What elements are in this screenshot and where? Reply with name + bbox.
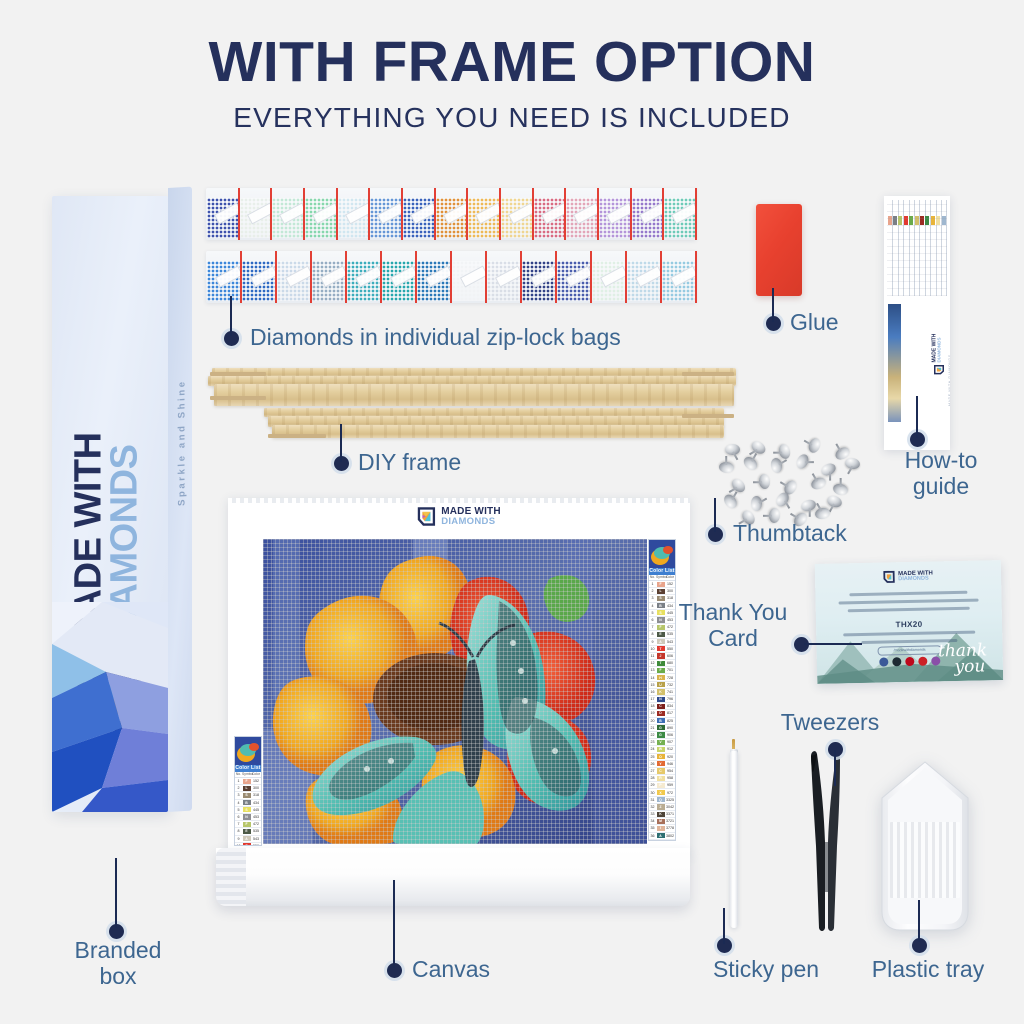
- canvas-diamond-grid-texture: [263, 539, 647, 844]
- color-row-symbol: C: [657, 704, 665, 709]
- color-row-symbol: F: [243, 779, 251, 784]
- color-list-row: 26Y946: [649, 761, 675, 768]
- color-row-symbol: T: [657, 646, 665, 651]
- ziplock-bag: [311, 251, 346, 303]
- tweezers-shape: [808, 742, 842, 932]
- color-row-code: 550: [251, 844, 261, 846]
- color-list-row: 19D817: [649, 710, 675, 717]
- color-list-row: 24W912: [649, 746, 675, 753]
- color-row-symbol: V: [657, 740, 665, 745]
- color-row-symbol: L: [243, 786, 251, 791]
- thumbtack-pin: [794, 452, 810, 470]
- color-list-row: 6N453: [235, 814, 261, 821]
- color-row-symbol: A: [657, 639, 665, 644]
- ziplock-bag: [565, 188, 598, 240]
- color-row-symbol: I: [657, 826, 665, 831]
- color-row-index: 18: [649, 704, 656, 708]
- color-row-code: 920: [665, 755, 675, 759]
- color-list-row: 32Z3042: [649, 804, 675, 811]
- color-list-row: 30X972: [649, 789, 675, 796]
- color-row-index: 6: [649, 618, 656, 622]
- color-row-code: 300: [251, 786, 261, 790]
- made-with-diamonds-logo-icon: [417, 506, 436, 527]
- color-row-code: 741: [665, 690, 675, 694]
- color-row-code: 3371: [665, 812, 675, 816]
- made-with-diamonds-logo-icon: [932, 365, 943, 375]
- callout-branded-box: Branded box: [30, 938, 206, 990]
- callout-thankyou-card: Thank You Card: [672, 600, 794, 652]
- color-list-row: 2L300: [649, 588, 675, 595]
- leader-line-tweezers: [834, 750, 836, 786]
- ziplock-bag: [304, 188, 337, 240]
- color-row-symbol: B: [657, 718, 665, 723]
- color-row-code: 825: [665, 719, 675, 723]
- ziplock-bag: [206, 188, 239, 240]
- color-row-index: 36: [649, 834, 656, 838]
- color-row-symbol: J: [657, 653, 665, 658]
- ziplock-bag: [533, 188, 566, 240]
- color-row-code: 906: [665, 733, 675, 737]
- color-list-row: 21G890: [649, 725, 675, 732]
- color-row-code: 543: [251, 837, 261, 841]
- color-row-code: 732: [665, 683, 675, 687]
- frame-tenon: [268, 434, 326, 438]
- color-row-symbol: R: [657, 776, 665, 781]
- frame-slat: [214, 384, 734, 406]
- plastic-tray-product: [872, 760, 978, 932]
- thumbtack-pin: [729, 476, 747, 494]
- leader-line-glue: [772, 288, 774, 322]
- ziplock-bag: [239, 188, 272, 240]
- color-row-symbol: Q: [657, 797, 665, 802]
- color-list-row: 1F152: [649, 581, 675, 588]
- leader-line-sticky-pen: [723, 908, 725, 944]
- color-row-index: 8: [235, 829, 242, 833]
- color-row-symbol: H: [657, 675, 665, 680]
- color-list-row: 34M3721: [649, 818, 675, 825]
- thumbtack-pin: [725, 444, 740, 455]
- color-row-index: 35: [649, 826, 656, 830]
- callout-tweezers: Tweezers: [760, 710, 900, 736]
- color-row-index: 6: [235, 815, 242, 819]
- color-row-symbol: L: [657, 589, 665, 594]
- color-row-index: 27: [649, 769, 656, 773]
- color-row-index: 33: [649, 812, 656, 816]
- color-row-index: 14: [649, 676, 656, 680]
- thumbtack-pin: [826, 494, 844, 509]
- canvas-brand-line2: DIAMONDS: [441, 517, 501, 527]
- guide-cover-photo: [888, 304, 901, 422]
- color-row-code: 958: [665, 776, 675, 780]
- ziplock-bag: [598, 188, 631, 240]
- bag-zip-seal: [695, 188, 697, 240]
- color-list-row: 31Q3325: [649, 797, 675, 804]
- thankyou-card-product: MADE WITH DIAMONDS THX20 /madewithdiamon…: [815, 560, 1003, 684]
- color-list-row: 27C954: [649, 768, 675, 775]
- ziplock-bag: [369, 188, 402, 240]
- color-row-index: 15: [649, 683, 656, 687]
- thumbtack-pin: [814, 507, 831, 521]
- thumbtack-pin: [719, 461, 735, 473]
- color-list-row: 15U732: [649, 682, 675, 689]
- box-side-panel: Sparkle and Shine: [168, 187, 192, 812]
- color-row-index: 1: [649, 582, 656, 586]
- color-list-row: 2L300: [235, 785, 261, 792]
- color-row-symbol: E: [243, 829, 251, 834]
- diy-frame-product: [208, 368, 738, 456]
- callout-plastic-tray: Plastic tray: [838, 957, 1018, 983]
- color-list-row: 17N796: [649, 696, 675, 703]
- thumbtack-pin: [741, 454, 760, 472]
- ziplock-bag: [556, 251, 591, 303]
- color-list-row: 20B825: [649, 718, 675, 725]
- color-row-index: 4: [235, 801, 242, 805]
- color-row-code: 796: [665, 697, 675, 701]
- color-row-code: 300: [665, 589, 675, 593]
- color-row-index: 31: [649, 798, 656, 802]
- guide-brand-logo: MADE WITH DIAMONDS: [932, 329, 943, 375]
- color-row-index: 3: [649, 596, 656, 600]
- color-row-symbol: F: [657, 582, 665, 587]
- color-row-symbol: A: [243, 836, 251, 841]
- color-row-symbol: F: [657, 625, 665, 630]
- frame-tenon: [210, 396, 266, 400]
- canvas-edge-top: [228, 498, 690, 503]
- color-row-index: 2: [649, 589, 656, 593]
- thumbtack-pin: [722, 492, 740, 511]
- color-row-code: 3778: [665, 826, 675, 830]
- ziplock-bag: [631, 188, 664, 240]
- pen-body: [730, 751, 738, 928]
- color-row-index: 21: [649, 726, 656, 730]
- ziplock-bag: [663, 188, 696, 240]
- ziplock-bag: [346, 251, 381, 303]
- thumbtack-pin: [809, 476, 827, 492]
- color-list-row: 33K3371: [649, 811, 675, 818]
- color-row-symbol: Z: [657, 804, 665, 809]
- leader-line-ziplock: [230, 296, 232, 336]
- color-row-index: 30: [649, 791, 656, 795]
- color-row-index: 10: [235, 844, 242, 846]
- callout-diy-frame: DIY frame: [358, 450, 558, 476]
- ziplock-bag: [402, 188, 435, 240]
- color-row-index: 2: [235, 786, 242, 790]
- color-list-row: 5S445: [235, 807, 261, 814]
- color-list-row: 7F472: [235, 821, 261, 828]
- color-row-symbol: C: [657, 768, 665, 773]
- color-row-index: 9: [649, 640, 656, 644]
- youtube-icon[interactable]: [918, 657, 927, 666]
- color-row-index: 11: [649, 654, 656, 658]
- color-row-symbol: N: [657, 617, 665, 622]
- canvas-roll-end-cap: [216, 848, 246, 906]
- ziplock-bag: [591, 251, 626, 303]
- color-row-code: 890: [665, 726, 675, 730]
- frame-tenon: [682, 372, 734, 376]
- color-row-code: 728: [665, 676, 675, 680]
- color-row-symbol: Y: [657, 761, 665, 766]
- color-row-index: 20: [649, 719, 656, 723]
- color-row-symbol: E: [657, 632, 665, 637]
- leader-line-branded-box: [115, 858, 117, 928]
- color-list-row: 25O920: [649, 754, 675, 761]
- color-row-symbol: N: [243, 814, 251, 819]
- color-row-index: 26: [649, 762, 656, 766]
- color-row-symbol: S: [657, 610, 665, 615]
- color-row-index: 32: [649, 805, 656, 809]
- color-row-index: 10: [649, 647, 656, 651]
- color-list-row: 29P959: [649, 782, 675, 789]
- color-list-row: 8E535: [235, 828, 261, 835]
- color-row-code: 701: [665, 668, 675, 672]
- leader-line-howto: [916, 396, 918, 438]
- color-row-symbol: T: [657, 840, 665, 841]
- card-brand-text: MADE WITH DIAMONDS: [898, 570, 933, 582]
- color-row-index: 16: [649, 690, 656, 694]
- color-row-symbol: M: [657, 819, 665, 824]
- color-row-symbol: S: [657, 596, 665, 601]
- thumbtack-pin: [819, 461, 837, 478]
- color-row-index: 12: [649, 661, 656, 665]
- thumbtack-pin: [844, 457, 861, 470]
- card-discount-code: THX20: [896, 620, 923, 630]
- page-title: WITH FRAME OPTION: [0, 34, 1024, 91]
- guide-side-text: MADE WITH DIAMONDS: [948, 346, 950, 406]
- color-list-row: 14H728: [649, 674, 675, 681]
- color-row-code: 445: [251, 808, 261, 812]
- color-row-code: 3721: [665, 819, 675, 823]
- canvas-artwork: [263, 539, 647, 844]
- box-lowpoly-pattern: [52, 602, 168, 812]
- color-row-index: 19: [649, 711, 656, 715]
- leader-line-diy-frame: [340, 424, 342, 462]
- thumbtack-pin: [832, 482, 849, 497]
- color-list-thumbnail: [649, 540, 675, 568]
- color-list-row: 28R958: [649, 775, 675, 782]
- color-row-code: 972: [665, 791, 675, 795]
- guide-brand-text: MADE WITH DIAMONDS: [932, 334, 942, 363]
- color-list-row: 37T3808: [649, 840, 675, 841]
- guide-brand-line2: DIAMONDS: [937, 334, 942, 363]
- ziplock-bag: [241, 251, 276, 303]
- frame-tenon: [682, 414, 734, 418]
- facebook-icon[interactable]: [879, 657, 888, 666]
- ziplock-bag: [271, 188, 304, 240]
- color-row-symbol: T: [657, 661, 665, 666]
- color-row-code: 453: [251, 815, 261, 819]
- color-row-symbol: S: [243, 793, 251, 798]
- color-row-code: 606: [665, 654, 675, 658]
- thumbtack-pin: [807, 437, 823, 455]
- color-list-row: 11J606: [649, 653, 675, 660]
- ziplock-bag: [486, 251, 521, 303]
- color-row-index: 29: [649, 783, 656, 787]
- color-row-symbol: B: [657, 603, 665, 608]
- color-row-index: 22: [649, 733, 656, 737]
- ziplock-bag: [626, 251, 661, 303]
- color-row-symbol: F: [657, 668, 665, 673]
- color-row-code: 152: [251, 779, 261, 783]
- color-list-title: Color List: [649, 568, 675, 575]
- color-row-index: 3: [235, 793, 242, 797]
- card-brand-line2: DIAMONDS: [898, 576, 933, 582]
- ziplock-bag: [435, 188, 468, 240]
- color-row-symbol: S: [243, 807, 251, 812]
- leader-line-thumbtack: [714, 498, 716, 532]
- color-row-symbol: B: [243, 800, 251, 805]
- color-row-code: 959: [665, 783, 675, 787]
- ziplock-bag: [206, 251, 241, 303]
- color-row-symbol: K: [657, 689, 665, 694]
- ziplock-bag: [337, 188, 370, 240]
- canvas-brand-text: MADE WITH DIAMONDS: [441, 507, 501, 527]
- color-row-symbol: K: [657, 812, 665, 817]
- color-row-code: 946: [665, 762, 675, 766]
- color-row-code: 318: [251, 793, 261, 797]
- color-list-row: 10T550: [235, 843, 261, 846]
- color-list-row: 1F152: [235, 778, 261, 785]
- canvas-color-list-left: Color List No. Symbol Color 1F1522L3003S…: [234, 736, 262, 846]
- tweezers-product: [808, 742, 842, 932]
- color-row-index: 7: [649, 625, 656, 629]
- callout-thumbtack: Thumbtack: [733, 521, 913, 547]
- frame-tenon: [210, 372, 266, 376]
- ziplock-bags-product: [206, 188, 696, 303]
- pinterest-icon[interactable]: [905, 657, 914, 666]
- thumbtack-pin: [770, 457, 784, 474]
- color-row-index: 8: [649, 632, 656, 636]
- color-row-index: 9: [235, 837, 242, 841]
- color-row-code: 3042: [665, 805, 675, 809]
- leader-line-plastic-tray: [918, 900, 920, 942]
- color-list-row: 9A543: [235, 836, 261, 843]
- canvas-product: MADE WITH DIAMONDS: [228, 498, 690, 878]
- card-thankyou-script: thank you: [930, 642, 995, 676]
- color-row-symbol: X: [657, 790, 665, 795]
- color-row-symbol: O: [657, 754, 665, 759]
- color-row-index: 24: [649, 747, 656, 751]
- color-row-symbol: U: [657, 682, 665, 687]
- color-row-index: 1: [235, 779, 242, 783]
- color-row-index: 23: [649, 740, 656, 744]
- color-row-symbol: D: [657, 711, 665, 716]
- color-list-rows: 1F1522L3003S3184B4345S4456N4537F4728E535…: [235, 778, 261, 846]
- card-message-line: [839, 599, 979, 605]
- canvas-rolled-bottom: [216, 848, 690, 906]
- color-list-row: 35I3778: [649, 825, 675, 832]
- ziplock-bag: [381, 251, 416, 303]
- color-row-symbol: A: [657, 833, 665, 838]
- color-row-code: 680: [665, 661, 675, 665]
- thumbtack-pin: [777, 443, 792, 460]
- infographic-root: WITH FRAME OPTION EVERYTHING YOU NEED IS…: [0, 0, 1024, 1024]
- thumbtack-pin: [751, 496, 762, 511]
- ziplock-bag: [661, 251, 696, 303]
- ziplock-bag: [416, 251, 451, 303]
- color-row-symbol: P: [657, 783, 665, 788]
- color-row-index: 17: [649, 697, 656, 701]
- color-row-symbol: G: [657, 725, 665, 730]
- sticky-pen-product: [727, 733, 741, 928]
- color-row-index: 5: [235, 808, 242, 812]
- canvas-color-list-right: Color List No. Symbol Color 1F1522L3003S…: [648, 539, 676, 841]
- canvas-brand-logo: MADE WITH DIAMONDS: [417, 506, 501, 527]
- color-row-symbol: F: [243, 822, 251, 827]
- callout-howto-guide: How-to guide: [866, 448, 1016, 500]
- color-list-row: 22G906: [649, 732, 675, 739]
- box-brand-line2: DIAMONDS: [107, 196, 143, 647]
- color-list-row: 18C834: [649, 703, 675, 710]
- branded-box-product: MADE WITH DIAMONDS: [52, 188, 194, 820]
- color-list-title: Color List: [235, 765, 261, 772]
- tray-ribs: [890, 822, 960, 898]
- callout-canvas: Canvas: [412, 957, 612, 983]
- color-row-index: 7: [235, 822, 242, 826]
- box-brand-line1: MADE WITH: [71, 196, 107, 647]
- box-front-face: MADE WITH DIAMONDS: [52, 196, 168, 812]
- glue-product: [756, 204, 802, 296]
- color-row-symbol: N: [657, 697, 665, 702]
- color-list-row: 4B434: [235, 800, 261, 807]
- card-message-line: [849, 591, 967, 596]
- color-row-code: 535: [251, 829, 261, 833]
- callout-sticky-pen: Sticky pen: [676, 957, 856, 983]
- color-row-index: 28: [649, 776, 656, 780]
- color-row-code: 434: [251, 801, 261, 805]
- color-row-index: 25: [649, 755, 656, 759]
- page-subtitle: EVERYTHING YOU NEED IS INCLUDED: [0, 104, 1024, 132]
- color-list-row: 16K741: [649, 689, 675, 696]
- box-tagline: Sparkle and Shine: [177, 342, 188, 543]
- color-row-symbol: G: [657, 732, 665, 737]
- color-row-index: 5: [649, 611, 656, 615]
- card-brand-logo: MADE WITH DIAMONDS: [883, 569, 933, 583]
- color-row-index: 13: [649, 668, 656, 672]
- color-row-code: 472: [251, 822, 261, 826]
- color-row-index: 4: [649, 604, 656, 608]
- color-row-code: 3325: [665, 798, 675, 802]
- twitter-icon[interactable]: [892, 657, 901, 666]
- ziplock-bag: [500, 188, 533, 240]
- leader-line-thankyou: [804, 643, 862, 645]
- color-row-index: 34: [649, 819, 656, 823]
- callout-ziplock-bags: Diamonds in individual zip-lock bags: [250, 325, 680, 351]
- color-row-code: 817: [665, 711, 675, 715]
- thumbtack-pin: [749, 439, 768, 457]
- thumbtack-product: [715, 440, 860, 530]
- color-row-code: 834: [665, 704, 675, 708]
- leader-line-canvas: [393, 880, 395, 968]
- color-row-code: 3802: [665, 834, 675, 838]
- bag-zip-seal: [695, 251, 697, 303]
- color-list-row: 23V907: [649, 739, 675, 746]
- color-list-row: 3S318: [235, 792, 261, 799]
- color-row-symbol: T: [243, 843, 251, 846]
- color-list-row: 12T680: [649, 660, 675, 667]
- thumbtack-pin: [758, 473, 771, 489]
- ziplock-bag: [451, 251, 486, 303]
- color-row-code: 954: [665, 769, 675, 773]
- card-message-line: [848, 607, 970, 612]
- box-brand-name: MADE WITH DIAMONDS: [71, 196, 144, 647]
- made-with-diamonds-logo-icon: [883, 570, 895, 583]
- color-row-code: 907: [665, 740, 675, 744]
- ziplock-bag: [467, 188, 500, 240]
- guide-color-chart-table: [887, 200, 947, 296]
- ziplock-bag: [521, 251, 556, 303]
- color-list-row: 13F701: [649, 667, 675, 674]
- canvas-sheet: MADE WITH DIAMONDS: [228, 498, 690, 856]
